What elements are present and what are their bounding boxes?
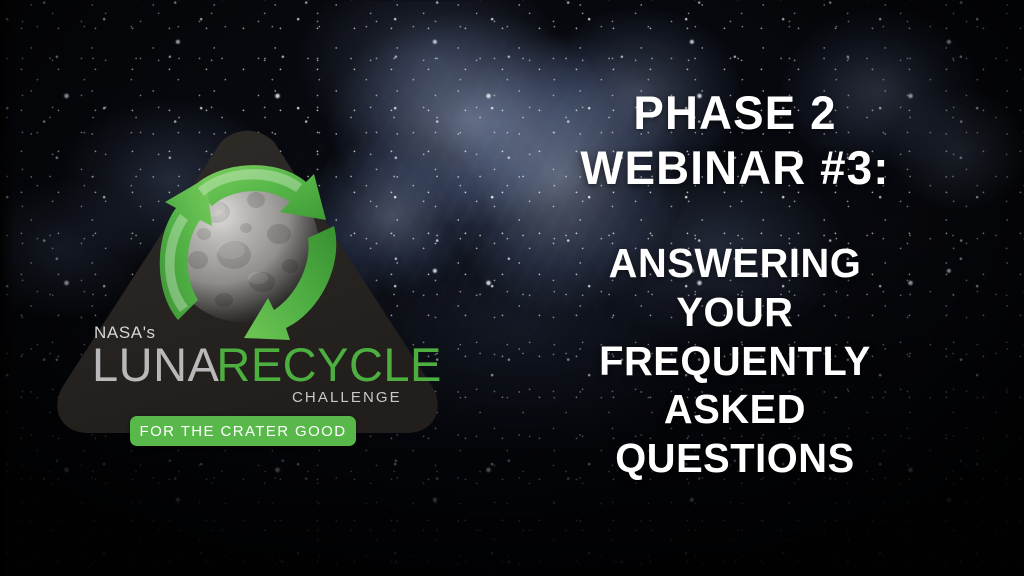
subheadline: ANSWERING YOUR FREQUENTLY ASKED QUESTION… <box>507 239 963 483</box>
headline-line-2: WEBINAR #3: <box>507 141 963 196</box>
subheadline-line-5: QUESTIONS <box>507 434 963 483</box>
subheadline-line-2: YOUR <box>507 288 963 337</box>
subheadline-line-4: ASKED <box>507 385 963 434</box>
webinar-title-slide: NASA's LUNARECYCLE CHALLENGE FOR THE CRA… <box>0 0 1024 576</box>
challenge-text: CHALLENGE <box>292 390 402 405</box>
moon-recycle-icon <box>138 142 356 360</box>
recycle-text: RECYCLE <box>216 338 442 391</box>
title-block: PHASE 2 WEBINAR #3: ANSWERING YOUR FREQU… <box>500 86 970 483</box>
tagline-pill: FOR THE CRATER GOOD <box>130 416 356 446</box>
headline-line-1: PHASE 2 <box>507 86 963 141</box>
background-left-edge-shade <box>0 0 14 576</box>
lunarecycle-wordmark: LUNARECYCLE <box>92 341 442 388</box>
subheadline-line-3: FREQUENTLY <box>507 337 963 386</box>
lunar-text: LUNA <box>92 338 219 391</box>
headline: PHASE 2 WEBINAR #3: <box>507 86 963 195</box>
tagline-text: FOR THE CRATER GOOD <box>140 424 347 439</box>
lunarecycle-logo: NASA's LUNARECYCLE CHALLENGE FOR THE CRA… <box>46 128 446 438</box>
subheadline-line-1: ANSWERING <box>507 239 963 288</box>
